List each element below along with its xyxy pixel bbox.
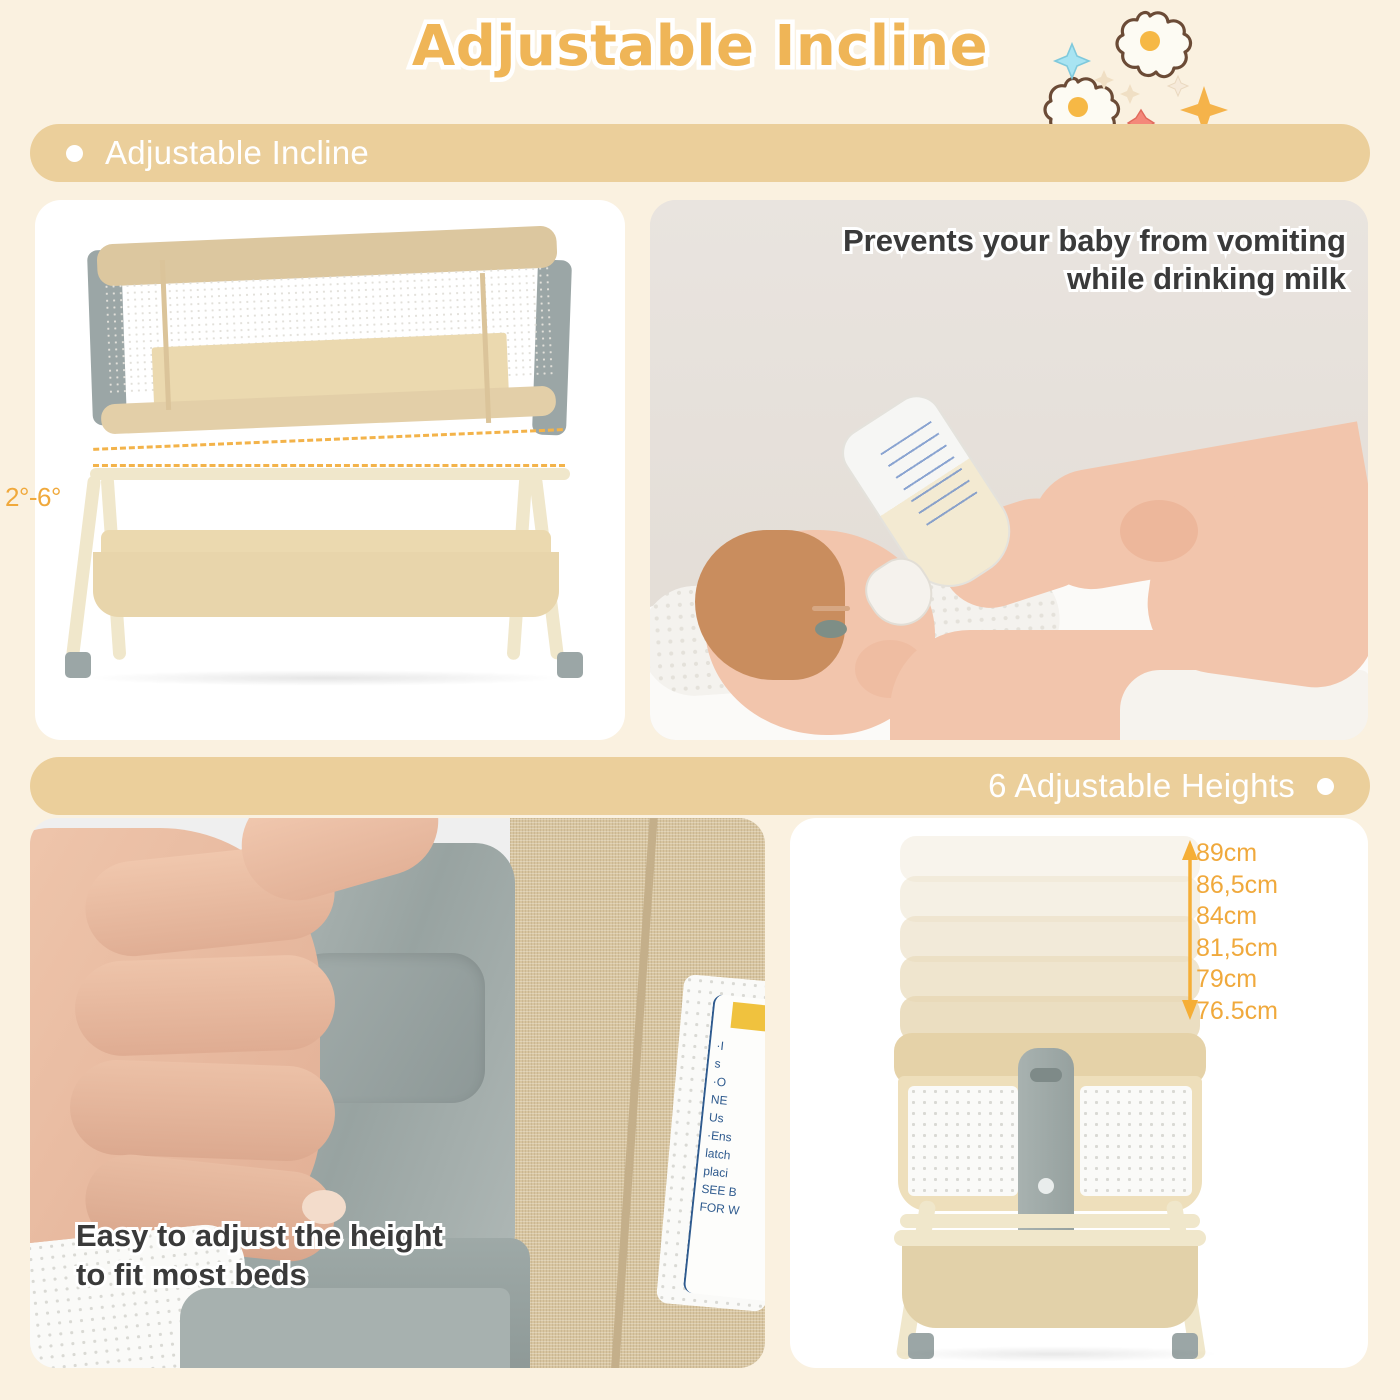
storage-tray — [902, 1238, 1198, 1328]
height-measurement: 89cm — [1196, 840, 1306, 867]
storage-tray-basket — [93, 552, 559, 617]
incline-dash-bottom — [93, 464, 565, 467]
baby-eye — [815, 620, 847, 638]
sparkle-icon — [1168, 76, 1188, 96]
panel-baby-drinking-milk: Prevents your baby from vomiting while d… — [650, 200, 1368, 740]
sparkle-icon — [1055, 44, 1089, 78]
baby-hair — [695, 530, 845, 680]
handle-caption-line1: Easy to adjust the height — [76, 1217, 443, 1255]
warning-label-band — [730, 1002, 765, 1035]
finger-middle — [73, 953, 336, 1057]
section-header-label: 6 Adjustable Heights — [988, 767, 1295, 805]
baby-caption-line1: Prevents your baby from vomiting — [843, 222, 1346, 260]
tray-frame — [894, 1230, 1206, 1246]
baby-caption-line2: while drinking milk — [843, 260, 1346, 298]
wheel-right — [557, 652, 583, 678]
section-header-incline: Adjustable Incline — [30, 124, 1370, 182]
section-header-label: Adjustable Incline — [105, 134, 369, 172]
wheel-left — [65, 652, 91, 678]
height-measurements-list: 89cm 86,5cm 84cm 81,5cm 79cm 76.5cm — [1196, 840, 1306, 1024]
frame-crossbar — [900, 1214, 1200, 1228]
product-shadow — [890, 1346, 1220, 1362]
section-header-heights: 6 Adjustable Heights — [30, 757, 1370, 815]
baby-caption: Prevents your baby from vomiting while d… — [843, 222, 1346, 299]
column-button — [1038, 1178, 1054, 1194]
incline-angle-label: 2°-6° — [5, 482, 61, 513]
handle-caption: Easy to adjust the height to fit most be… — [76, 1217, 443, 1294]
height-measurement: 79cm — [1196, 966, 1306, 993]
panel-bassinet-side-view — [35, 200, 625, 740]
sparkle-icon — [1120, 84, 1140, 104]
flower-icon — [1117, 13, 1191, 77]
panel-hand-adjusting-handle: ·I s ·O NE Us ·Ens latch placi SEE B FOR… — [30, 818, 765, 1368]
finger-ring — [68, 1058, 336, 1162]
height-measurement: 76.5cm — [1196, 998, 1306, 1025]
height-measurement: 81,5cm — [1196, 935, 1306, 962]
handle-lower-gray — [180, 1288, 510, 1368]
product-shadow — [85, 670, 565, 686]
height-measurement: 86,5cm — [1196, 872, 1306, 899]
support-bar — [90, 468, 570, 480]
baby-eyebrow — [812, 606, 850, 611]
bassinet-mesh-left — [908, 1086, 1018, 1196]
handle-caption-line2: to fit most beds — [76, 1256, 443, 1294]
bullet-dot-icon — [1317, 778, 1334, 795]
baby-foot — [1120, 500, 1198, 562]
height-measurement: 84cm — [1196, 903, 1306, 930]
bassinet-mesh-right — [1080, 1086, 1192, 1196]
bullet-dot-icon — [66, 145, 83, 162]
column-handle-slot — [1030, 1068, 1062, 1082]
